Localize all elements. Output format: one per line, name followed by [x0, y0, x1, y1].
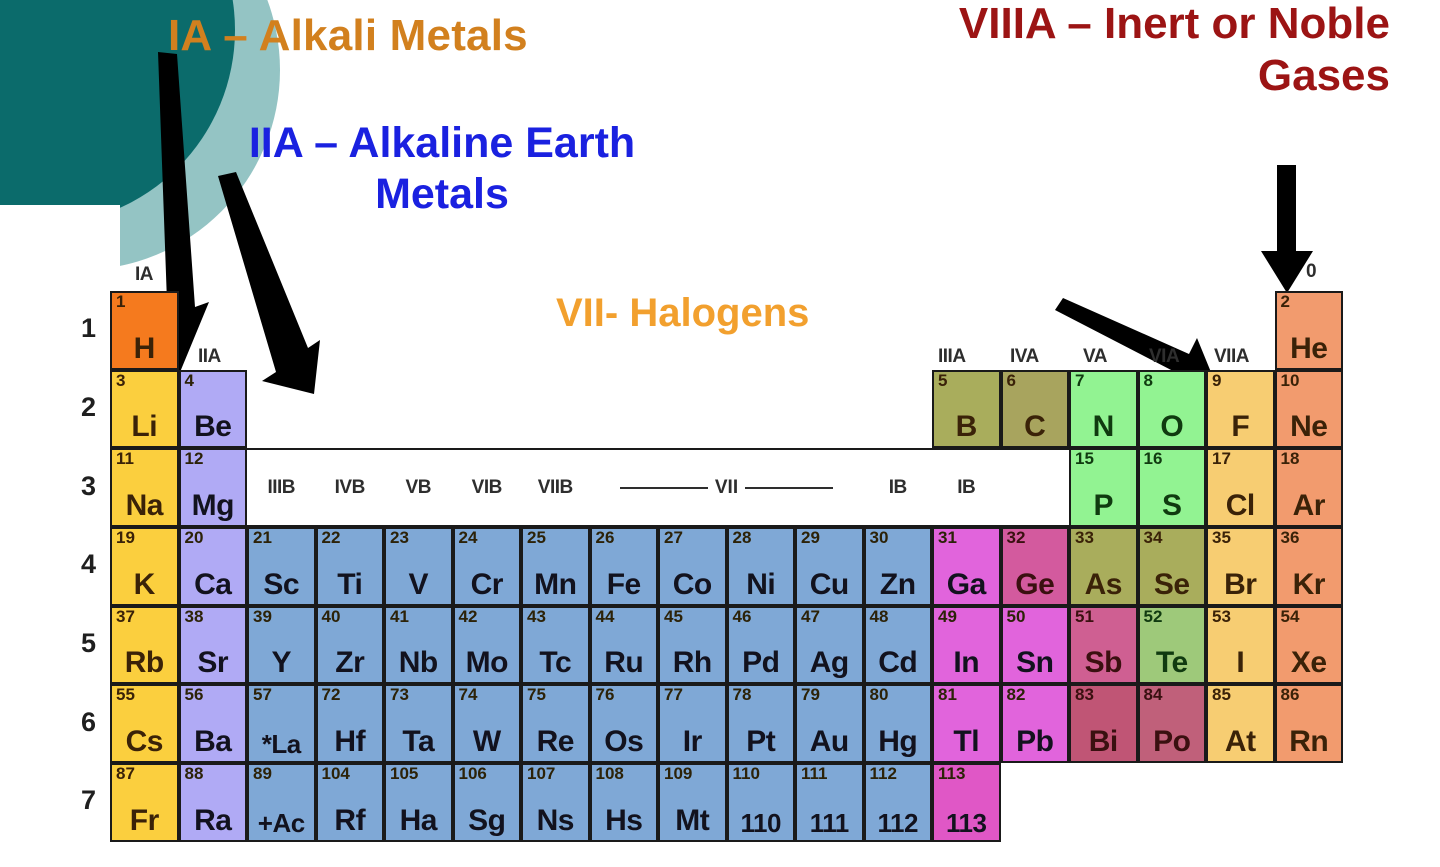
atomic-number: 22 [322, 529, 341, 547]
atomic-number: 72 [322, 686, 341, 704]
atomic-number: 56 [185, 686, 204, 704]
element-cell-pd[interactable]: 46Pd [727, 606, 796, 685]
element-cell-o[interactable]: 8O [1138, 370, 1207, 449]
element-symbol: Hf [334, 727, 365, 757]
atomic-number: 53 [1212, 608, 1231, 626]
atomic-number: 28 [733, 529, 752, 547]
atomic-number: 110 [733, 765, 760, 783]
atomic-number: 84 [1144, 686, 1163, 704]
element-symbol: +Ac [258, 810, 305, 836]
atomic-number: 108 [596, 765, 624, 783]
element-cell-hs[interactable]: 108Hs [590, 763, 659, 842]
element-symbol: Li [131, 412, 157, 442]
element-cell-113[interactable]: 113113 [932, 763, 1001, 842]
element-cell-rn[interactable]: 86Rn [1275, 684, 1344, 763]
element-cell-sr[interactable]: 38Sr [179, 606, 248, 685]
element-symbol: 113 [946, 810, 986, 836]
element-cell-zr[interactable]: 40Zr [316, 606, 385, 685]
element-symbol: Cu [810, 570, 849, 600]
atomic-number: 73 [390, 686, 409, 704]
atomic-number: 81 [938, 686, 957, 704]
element-cell-sg[interactable]: 106Sg [453, 763, 522, 842]
element-cell-as[interactable]: 33As [1069, 527, 1138, 606]
atomic-number: 75 [527, 686, 546, 704]
atomic-number: 34 [1144, 529, 1163, 547]
period-label-1: 1 [62, 313, 96, 344]
element-symbol: W [473, 727, 501, 757]
element-cell-re[interactable]: 75Re [521, 684, 590, 763]
empty-cell [1001, 763, 1070, 842]
element-cell-ti[interactable]: 22Ti [316, 527, 385, 606]
atomic-number: 51 [1075, 608, 1094, 626]
element-symbol: O [1160, 412, 1183, 442]
element-symbol: H [134, 334, 155, 364]
element-cell-112[interactable]: 112112 [864, 763, 933, 842]
empty-cell [316, 291, 385, 370]
element-symbol: Hg [878, 727, 917, 757]
atomic-number: 79 [801, 686, 820, 704]
atomic-number: 109 [664, 765, 692, 783]
empty-cell [247, 370, 316, 449]
element-symbol: S [1162, 491, 1182, 521]
group-label-zero: 0 [1306, 261, 1316, 283]
element-cell-cu[interactable]: 29Cu [795, 527, 864, 606]
element-cell-b[interactable]: 5B [932, 370, 1001, 449]
slide-canvas: IA – Alkali Metals IIA – Alkaline Earth … [0, 0, 1440, 867]
atomic-number: 106 [459, 765, 487, 783]
element-cell-n[interactable]: 7N [1069, 370, 1138, 449]
element-symbol: Ti [337, 570, 362, 600]
element-symbol: Pt [746, 727, 775, 757]
atomic-number: 30 [870, 529, 889, 547]
element-cell-br[interactable]: 35Br [1206, 527, 1275, 606]
element-symbol: B [956, 412, 977, 442]
period-label-7: 7 [62, 785, 96, 816]
element-cell-ir[interactable]: 77Ir [658, 684, 727, 763]
annotation-alkali-metals: IA – Alkali Metals [168, 10, 528, 62]
atomic-number: 35 [1212, 529, 1231, 547]
element-cell-li[interactable]: 3Li [110, 370, 179, 449]
element-symbol: 110 [741, 810, 781, 836]
empty-cell [590, 370, 659, 449]
element-cell-la[interactable]: 57*La [247, 684, 316, 763]
element-cell-co[interactable]: 27Co [658, 527, 727, 606]
empty-cell [1138, 291, 1207, 370]
element-symbol: Cr [471, 570, 503, 600]
element-symbol: Ne [1290, 412, 1327, 442]
element-symbol: Zr [335, 648, 364, 678]
atomic-number: 40 [322, 608, 341, 626]
atomic-number: 77 [664, 686, 683, 704]
element-symbol: Ha [400, 806, 437, 836]
element-cell-f[interactable]: 9F [1206, 370, 1275, 449]
atomic-number: 32 [1007, 529, 1026, 547]
atomic-number: 33 [1075, 529, 1094, 547]
element-symbol: Xe [1291, 648, 1327, 678]
element-symbol: 111 [810, 810, 849, 836]
element-symbol: Te [1156, 648, 1188, 678]
element-symbol: At [1225, 727, 1256, 757]
element-symbol: Rf [334, 806, 365, 836]
period-label-5: 5 [62, 628, 96, 659]
element-cell-in[interactable]: 49In [932, 606, 1001, 685]
atomic-number: 47 [801, 608, 820, 626]
atomic-number: 86 [1281, 686, 1300, 704]
element-symbol: *La [262, 731, 301, 757]
element-symbol: Nb [399, 648, 438, 678]
element-cell-h[interactable]: 1H [110, 291, 179, 370]
atomic-number: 78 [733, 686, 752, 704]
element-symbol: Mg [192, 491, 234, 521]
element-symbol: He [1290, 334, 1327, 364]
empty-cell [1069, 291, 1138, 370]
atomic-number: 7 [1075, 372, 1084, 390]
element-cell-ga[interactable]: 31Ga [932, 527, 1001, 606]
element-symbol: 112 [878, 810, 918, 836]
element-cell-v[interactable]: 23V [384, 527, 453, 606]
element-symbol: Cd [878, 648, 917, 678]
element-cell-tc[interactable]: 43Tc [521, 606, 590, 685]
group-label-ia: IA [135, 264, 153, 286]
decorative-white-notch [0, 205, 120, 345]
atomic-number: 15 [1075, 450, 1094, 468]
atomic-number: 113 [938, 765, 965, 783]
atomic-number: 85 [1212, 686, 1231, 704]
element-symbol: Na [126, 491, 163, 521]
element-cell-rh[interactable]: 45Rh [658, 606, 727, 685]
element-cell-p[interactable]: 15P [1069, 448, 1138, 527]
atomic-number: 26 [596, 529, 615, 547]
element-symbol: Ca [194, 570, 231, 600]
element-cell-ta[interactable]: 73Ta [384, 684, 453, 763]
period-label-4: 4 [62, 549, 96, 580]
element-symbol: Bi [1089, 727, 1118, 757]
atomic-number: 6 [1007, 372, 1016, 390]
atomic-number: 11 [116, 450, 134, 468]
element-symbol: Ra [194, 806, 231, 836]
element-symbol: Fe [607, 570, 641, 600]
element-cell-ns[interactable]: 107Ns [521, 763, 590, 842]
element-cell-fe[interactable]: 26Fe [590, 527, 659, 606]
atomic-number: 20 [185, 529, 204, 547]
element-symbol: Ir [683, 727, 702, 757]
atomic-number: 88 [185, 765, 204, 783]
atomic-number: 37 [116, 608, 135, 626]
element-symbol: Sb [1085, 648, 1122, 678]
element-symbol: In [953, 648, 979, 678]
element-symbol: Sc [263, 570, 299, 600]
element-cell-hg[interactable]: 80Hg [864, 684, 933, 763]
element-cell-xe[interactable]: 54Xe [1275, 606, 1344, 685]
element-cell-c[interactable]: 6C [1001, 370, 1070, 449]
element-symbol: Pb [1016, 727, 1053, 757]
atomic-number: 76 [596, 686, 615, 704]
atomic-number: 105 [390, 765, 418, 783]
element-cell-ha[interactable]: 105Ha [384, 763, 453, 842]
element-symbol: Ag [810, 648, 849, 678]
element-cell-au[interactable]: 79Au [795, 684, 864, 763]
element-symbol: Sn [1016, 648, 1053, 678]
atomic-number: 3 [116, 372, 125, 390]
element-cell-te[interactable]: 52Te [1138, 606, 1207, 685]
element-symbol: Ar [1293, 491, 1325, 521]
atomic-number: 46 [733, 608, 752, 626]
empty-cell [1138, 763, 1207, 842]
element-cell-ca[interactable]: 20Ca [179, 527, 248, 606]
element-symbol: Cs [126, 727, 163, 757]
element-symbol: Tc [539, 648, 571, 678]
element-cell-111[interactable]: 111111 [795, 763, 864, 842]
element-symbol: As [1085, 570, 1122, 600]
element-cell-s[interactable]: 16S [1138, 448, 1207, 527]
atomic-number: 8 [1144, 372, 1153, 390]
element-symbol: Be [194, 412, 231, 442]
element-symbol: Zn [880, 570, 916, 600]
element-symbol: K [134, 570, 155, 600]
element-symbol: Ga [947, 570, 986, 600]
atomic-number: 52 [1144, 608, 1163, 626]
element-cell-ar[interactable]: 18Ar [1275, 448, 1344, 527]
atomic-number: 54 [1281, 608, 1300, 626]
annotation-noble-gases: VIIIA – Inert or Noble Gases [840, 0, 1390, 102]
atomic-number: 57 [253, 686, 272, 704]
atomic-number: 83 [1075, 686, 1094, 704]
atomic-number: 9 [1212, 372, 1221, 390]
empty-cell [1206, 291, 1275, 370]
atomic-number: 41 [390, 608, 409, 626]
element-symbol: Ru [604, 648, 643, 678]
element-symbol: Co [673, 570, 712, 600]
element-cell-sb[interactable]: 51Sb [1069, 606, 1138, 685]
atomic-number: 27 [664, 529, 683, 547]
atomic-number: 112 [870, 765, 897, 783]
element-cell-at[interactable]: 85At [1206, 684, 1275, 763]
atomic-number: 42 [459, 608, 478, 626]
element-cell-k[interactable]: 19K [110, 527, 179, 606]
element-cell-nb[interactable]: 41Nb [384, 606, 453, 685]
atomic-number: 50 [1007, 608, 1026, 626]
element-cell-he[interactable]: 2He [1275, 291, 1344, 370]
atomic-number: 107 [527, 765, 555, 783]
empty-cell [384, 370, 453, 449]
empty-cell [1206, 763, 1275, 842]
element-cell-y[interactable]: 39Y [247, 606, 316, 685]
element-symbol: Po [1153, 727, 1190, 757]
element-symbol: I [1236, 648, 1244, 678]
empty-cell [727, 291, 796, 370]
element-cell-se[interactable]: 34Se [1138, 527, 1207, 606]
element-symbol: C [1024, 412, 1045, 442]
atomic-number: 39 [253, 608, 272, 626]
empty-cell [727, 370, 796, 449]
empty-cell [521, 370, 590, 449]
element-cell-w[interactable]: 74W [453, 684, 522, 763]
atomic-number: 31 [938, 529, 957, 547]
element-cell-os[interactable]: 76Os [590, 684, 659, 763]
arrow-to-noble-gases [1255, 165, 1335, 295]
atomic-number: 44 [596, 608, 615, 626]
empty-cell [590, 291, 659, 370]
element-symbol: Os [604, 727, 643, 757]
empty-cell [864, 291, 933, 370]
element-symbol: Au [810, 727, 849, 757]
period-label-6: 6 [62, 707, 96, 738]
element-cell-pt[interactable]: 78Pt [727, 684, 796, 763]
element-cell-i[interactable]: 53I [1206, 606, 1275, 685]
atomic-number: 10 [1281, 372, 1300, 390]
element-cell-mt[interactable]: 109Mt [658, 763, 727, 842]
atomic-number: 80 [870, 686, 889, 704]
element-symbol: V [408, 570, 428, 600]
element-symbol: Y [271, 648, 291, 678]
atomic-number: 104 [322, 765, 350, 783]
element-symbol: Rh [673, 648, 712, 678]
element-cell-110[interactable]: 110110 [727, 763, 796, 842]
element-symbol: Ba [194, 727, 231, 757]
element-cell-cd[interactable]: 48Cd [864, 606, 933, 685]
empty-cell [1001, 291, 1070, 370]
empty-cell [316, 370, 385, 449]
element-symbol: Sg [468, 806, 505, 836]
atomic-number: 17 [1212, 450, 1231, 468]
empty-cell [1069, 763, 1138, 842]
element-symbol: F [1231, 412, 1249, 442]
empty-cell [795, 291, 864, 370]
element-cell-pb[interactable]: 82Pb [1001, 684, 1070, 763]
element-cell-cr[interactable]: 24Cr [453, 527, 522, 606]
atomic-number: 82 [1007, 686, 1026, 704]
periodic-table: 1 2 3 4 5 6 7 IA IIA 0 IIIA IVA VA VIA V… [110, 291, 1343, 842]
atomic-number: 23 [390, 529, 409, 547]
element-symbol: Br [1224, 570, 1256, 600]
atomic-number: 21 [253, 529, 272, 547]
empty-cell [932, 291, 1001, 370]
element-symbol: Sr [197, 648, 228, 678]
element-symbol: Ge [1015, 570, 1054, 600]
element-cell-ne[interactable]: 10Ne [1275, 370, 1344, 449]
element-symbol: Ni [746, 570, 775, 600]
atomic-number: 1 [116, 293, 125, 311]
atomic-number: 2 [1281, 293, 1290, 311]
element-cell-sn[interactable]: 50Sn [1001, 606, 1070, 685]
element-cell-mn[interactable]: 25Mn [521, 527, 590, 606]
atomic-number: 89 [253, 765, 272, 783]
atomic-number: 55 [116, 686, 135, 704]
empty-cell [179, 291, 248, 370]
empty-cell [795, 370, 864, 449]
element-symbol: Fr [130, 806, 159, 836]
element-cell-be[interactable]: 4Be [179, 370, 248, 449]
empty-cell [864, 370, 933, 449]
element-cell-rb[interactable]: 37Rb [110, 606, 179, 685]
element-cell-ag[interactable]: 47Ag [795, 606, 864, 685]
element-cell-mg[interactable]: 12Mg [179, 448, 248, 527]
element-cell-sc[interactable]: 21Sc [247, 527, 316, 606]
element-symbol: Kr [1293, 570, 1325, 600]
element-cell-cl[interactable]: 17Cl [1206, 448, 1275, 527]
element-cell-mo[interactable]: 42Mo [453, 606, 522, 685]
element-symbol: Rn [1289, 727, 1328, 757]
element-symbol: Tl [953, 727, 979, 757]
empty-cell [247, 291, 316, 370]
empty-cell [521, 291, 590, 370]
period-label-3: 3 [62, 471, 96, 502]
atomic-number: 36 [1281, 529, 1300, 547]
element-symbol: Hs [605, 806, 642, 836]
atomic-number: 25 [527, 529, 546, 547]
atomic-number: 45 [664, 608, 683, 626]
empty-cell [658, 291, 727, 370]
empty-cell [1275, 763, 1344, 842]
element-cell-bi[interactable]: 83Bi [1069, 684, 1138, 763]
element-symbol: Rb [125, 648, 164, 678]
element-cell-na[interactable]: 11Na [110, 448, 179, 527]
empty-cell [453, 291, 522, 370]
atomic-number: 18 [1281, 450, 1300, 468]
atomic-number: 4 [185, 372, 194, 390]
atomic-number: 24 [459, 529, 478, 547]
element-cell-ni[interactable]: 28Ni [727, 527, 796, 606]
element-cell-po[interactable]: 84Po [1138, 684, 1207, 763]
element-cell-ru[interactable]: 44Ru [590, 606, 659, 685]
atomic-number: 43 [527, 608, 546, 626]
element-symbol: Re [537, 727, 574, 757]
element-cell-tl[interactable]: 81Tl [932, 684, 1001, 763]
element-cell-ra[interactable]: 88Ra [179, 763, 248, 842]
element-cell-ba[interactable]: 56Ba [179, 684, 248, 763]
atomic-number: 16 [1144, 450, 1163, 468]
element-cell-zn[interactable]: 30Zn [864, 527, 933, 606]
element-symbol: N [1093, 412, 1114, 442]
atomic-number: 5 [938, 372, 947, 390]
element-symbol: Mo [466, 648, 508, 678]
element-symbol: Ta [402, 727, 434, 757]
element-symbol: Mn [534, 570, 576, 600]
atomic-number: 74 [459, 686, 478, 704]
element-symbol: Se [1154, 570, 1190, 600]
element-symbol: Cl [1226, 491, 1255, 521]
element-symbol: Pd [742, 648, 779, 678]
atomic-number: 12 [185, 450, 204, 468]
atomic-number: 29 [801, 529, 820, 547]
element-symbol: Mt [675, 806, 709, 836]
element-cell-ac[interactable]: 89+Ac [247, 763, 316, 842]
empty-cell [658, 370, 727, 449]
atomic-number: 38 [185, 608, 204, 626]
element-cell-ge[interactable]: 32Ge [1001, 527, 1070, 606]
period-label-2: 2 [62, 392, 96, 423]
element-cell-rf[interactable]: 104Rf [316, 763, 385, 842]
atomic-number: 19 [116, 529, 135, 547]
element-cell-kr[interactable]: 36Kr [1275, 527, 1344, 606]
element-cell-fr[interactable]: 87Fr [110, 763, 179, 842]
element-grid: 1H2He3Li4Be5B6C7N8O9F10Ne11Na12Mg13Al14S… [110, 291, 1343, 842]
atomic-number: 111 [801, 765, 828, 783]
element-cell-hf[interactable]: 72Hf [316, 684, 385, 763]
atomic-number: 48 [870, 608, 889, 626]
empty-cell [453, 370, 522, 449]
empty-cell [384, 291, 453, 370]
atomic-number: 87 [116, 765, 135, 783]
element-symbol: Ns [537, 806, 574, 836]
atomic-number: 49 [938, 608, 957, 626]
transition-label-band [247, 448, 1069, 527]
element-cell-cs[interactable]: 55Cs [110, 684, 179, 763]
element-symbol: P [1093, 491, 1113, 521]
